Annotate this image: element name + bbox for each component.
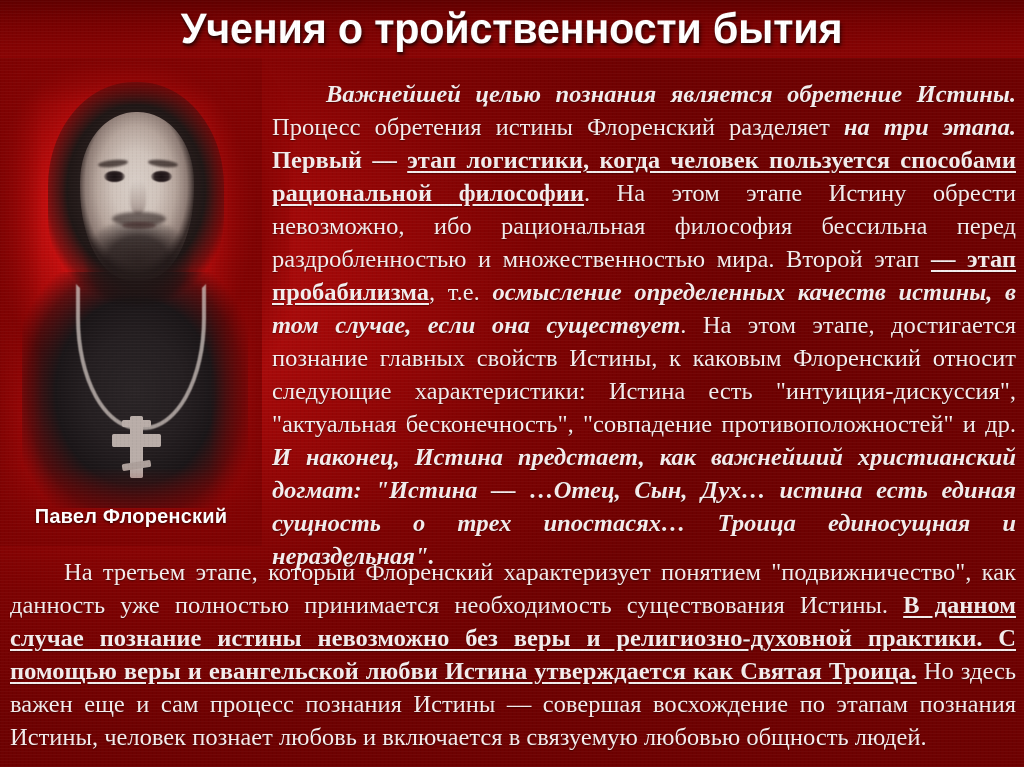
portrait-figure [0,56,262,546]
closing-text-column: На третьем этапе, который Флоренский хар… [10,556,1016,754]
portrait-edge-fade [0,56,262,546]
page-title: Учения о тройственности бытия [181,5,843,53]
closing-paragraph: На третьем этапе, который Флоренский хар… [10,556,1016,754]
text-run: Процесс обретения истины Флоренский разд… [272,114,844,141]
text-run: На третьем этапе, который Флоренский хар… [10,559,1016,619]
slide-root: Учения о тройственности бытия Павел Флор… [0,0,1024,767]
text-run: Важнейшей целью познания является обрете… [326,81,1016,108]
text-run: , т.е. [429,279,492,306]
body-paragraph: Важнейшей целью познания является обрете… [272,78,1016,573]
portrait-caption: Павел Флоренский [0,506,262,529]
slide-title-bar: Учения о тройственности бытия [0,0,1024,58]
text-run: Первый — [272,147,407,174]
text-run: на три этапа. [844,114,1016,141]
text-run: И наконец, Истина предстает, как важнейш… [272,444,1016,570]
body-text-column: Важнейшей целью познания является обрете… [272,78,1016,573]
